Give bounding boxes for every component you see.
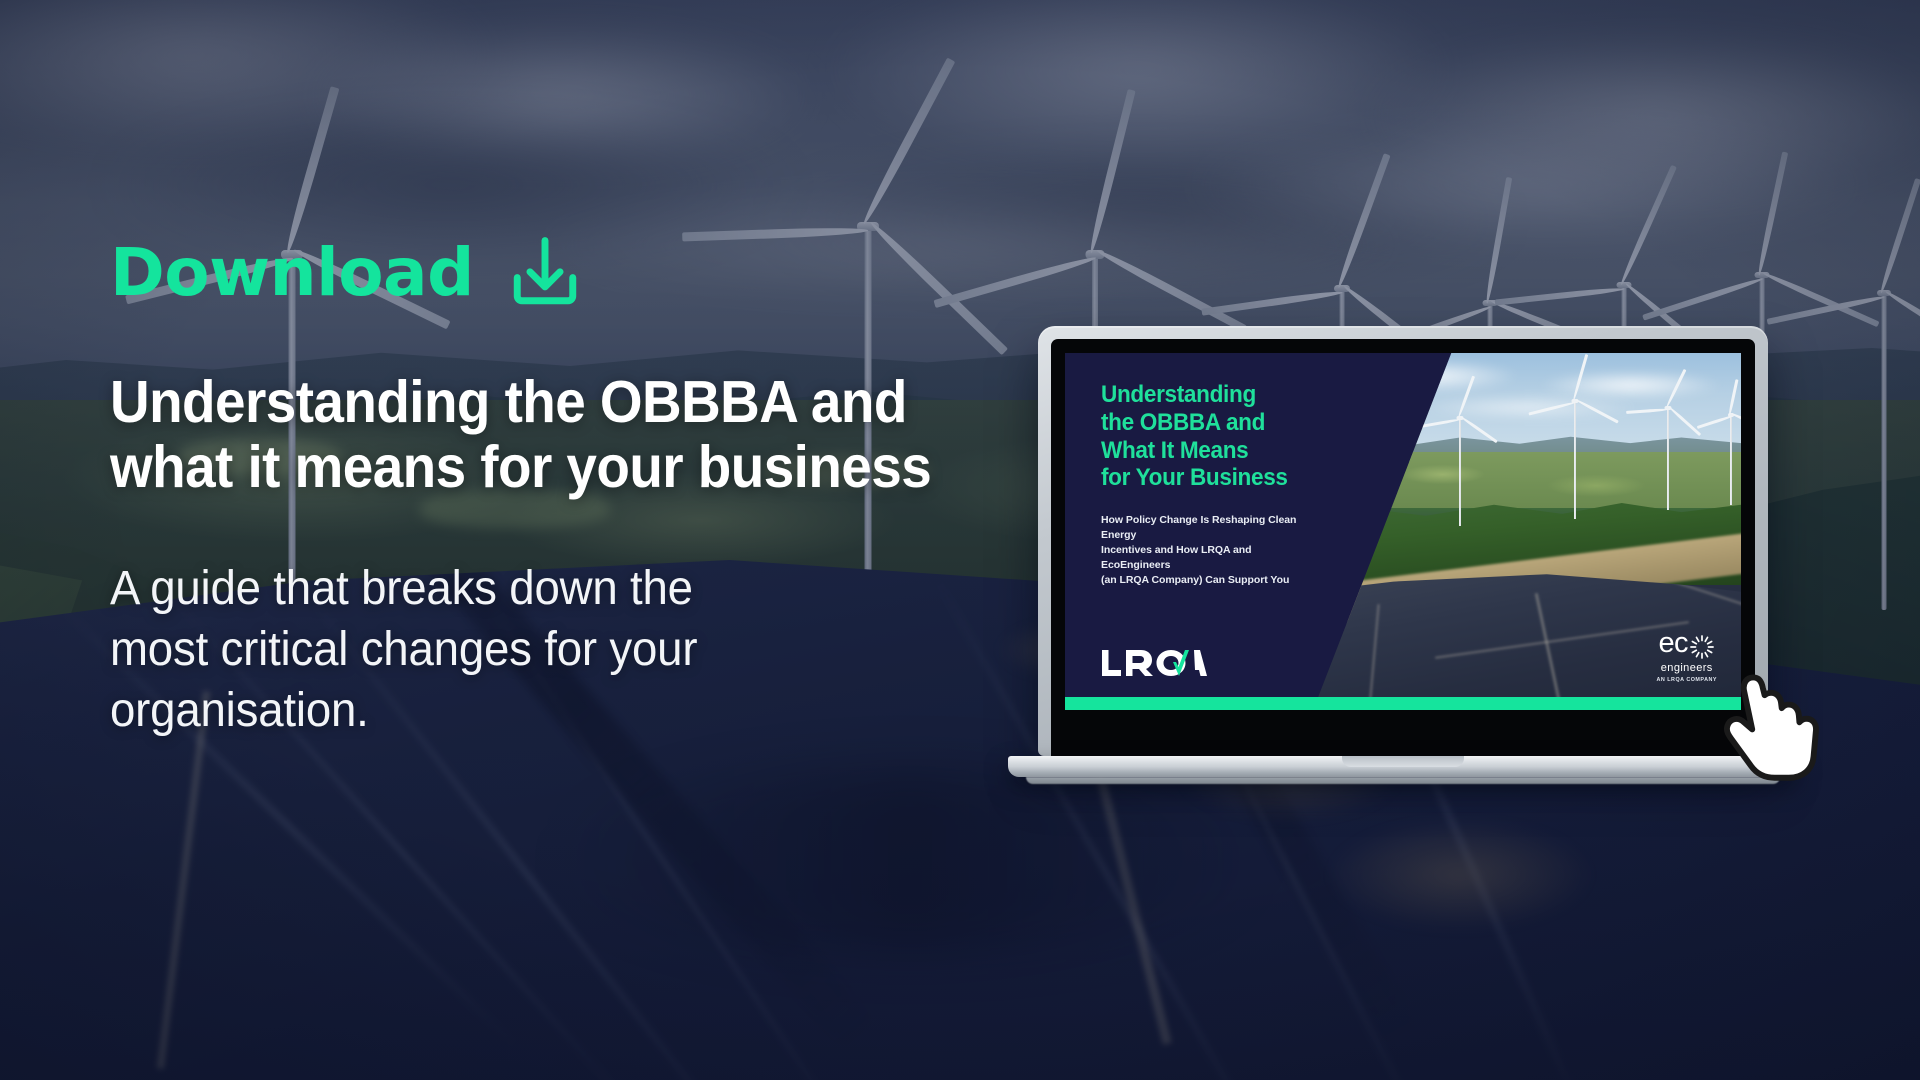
laptop-base-notch [1342,756,1464,767]
headline-line-1: Understanding the OBBBA and [110,370,975,435]
laptop-lid: Understanding the OBBBA and What It Mean… [1038,326,1768,756]
body-line-2: most critical changes for your [110,620,861,681]
cover-title-line-1: Understanding [1101,381,1374,409]
cover-title: Understanding the OBBBA and What It Mean… [1101,381,1374,492]
laptop-bezel: Understanding the OBBBA and What It Mean… [1051,339,1755,756]
cover-text-block: Understanding the OBBBA and What It Mean… [1101,381,1391,588]
wind-turbine [1656,406,1680,510]
cover-title-line-3: What It Means [1101,437,1374,465]
download-arrow-icon[interactable] [508,236,582,310]
wind-turbine [1720,413,1741,505]
cover-subtitle-line-1: How Policy Change Is Reshaping Clean Ene… [1101,513,1316,543]
eco-logo-tagline: AN LRQA COMPANY [1656,677,1717,683]
pointing-hand-cursor[interactable] [1718,668,1836,786]
cover-subtitle-line-2: Incentives and How LRQA and EcoEngineers [1101,543,1316,573]
cloud [1537,371,1724,399]
eco-engineers-logo: ec [1656,631,1717,683]
body-line-3: organisation. [110,681,861,742]
promo-copy: Download Understanding the OBBBA and wha… [110,236,1070,742]
wind-turbine [1562,399,1588,519]
eco-logo-name: engineers [1656,662,1717,674]
laptop-base [1008,756,1798,786]
wind-turbine [1447,416,1473,526]
download-label: Download [110,240,474,306]
promo-banner: Download Understanding the OBBBA and wha… [0,0,1920,1080]
laptop-mockup: Understanding the OBBBA and What It Mean… [1038,326,1768,786]
laptop-base-body [1008,756,1798,777]
ebook-cover[interactable]: Understanding the OBBBA and What It Mean… [1065,353,1741,705]
sunburst-icon [1689,634,1715,660]
cover-title-line-4: for Your Business [1101,464,1374,492]
laptop-base-shadow [1026,777,1780,784]
page-title: Understanding the OBBBA and what it mean… [110,370,975,501]
cover-title-line-2: the OBBBA and [1101,409,1374,437]
cover-subtitle: How Policy Change Is Reshaping Clean Ene… [1101,513,1316,588]
body-line-1: A guide that breaks down the [110,559,861,620]
headline-line-2: what it means for your business [110,435,975,500]
lrqa-logo-icon [1101,647,1207,679]
lrqa-logo [1101,647,1207,679]
cover-accent-bar [1065,697,1741,710]
download-row[interactable]: Download [110,236,1070,310]
eco-logo-mark: ec [1659,631,1688,656]
cover-subtitle-line-3: (an LRQA Company) Can Support You [1101,573,1316,588]
promo-description: A guide that breaks down the most critic… [110,559,861,742]
